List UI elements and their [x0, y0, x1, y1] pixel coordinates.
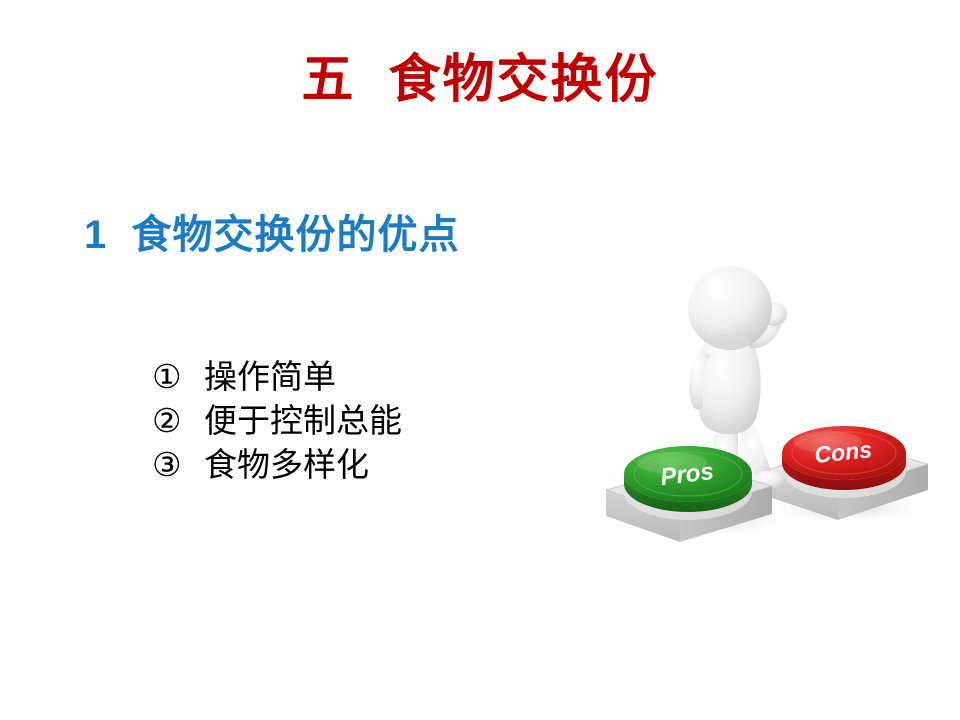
cons-button: Cons — [782, 426, 906, 498]
list-item-marker: ② — [152, 399, 204, 443]
list-item: ②便于控制总能 — [152, 399, 402, 443]
section-heading: 1 食物交换份的优点 — [84, 212, 459, 258]
page-title: 五 食物交换份 — [0, 52, 960, 109]
list-item-label: 食物多样化 — [204, 446, 369, 483]
list-item: ①操作简单 — [152, 355, 402, 399]
list-item-label: 操作简单 — [204, 358, 336, 395]
list-item-marker: ③ — [152, 443, 204, 487]
list-item-label: 便于控制总能 — [204, 402, 402, 439]
list-item-marker: ① — [152, 355, 204, 399]
pros-cons-illustration-image: Cons — [588, 258, 928, 548]
advantages-list: ①操作简单 ②便于控制总能 ③食物多样化 — [152, 355, 402, 487]
list-item: ③食物多样化 — [152, 443, 402, 487]
slide-canvas: 五 食物交换份 1 食物交换份的优点 ①操作简单 ②便于控制总能 ③食物多样化 — [0, 0, 960, 720]
pros-button: Pros — [624, 446, 752, 520]
